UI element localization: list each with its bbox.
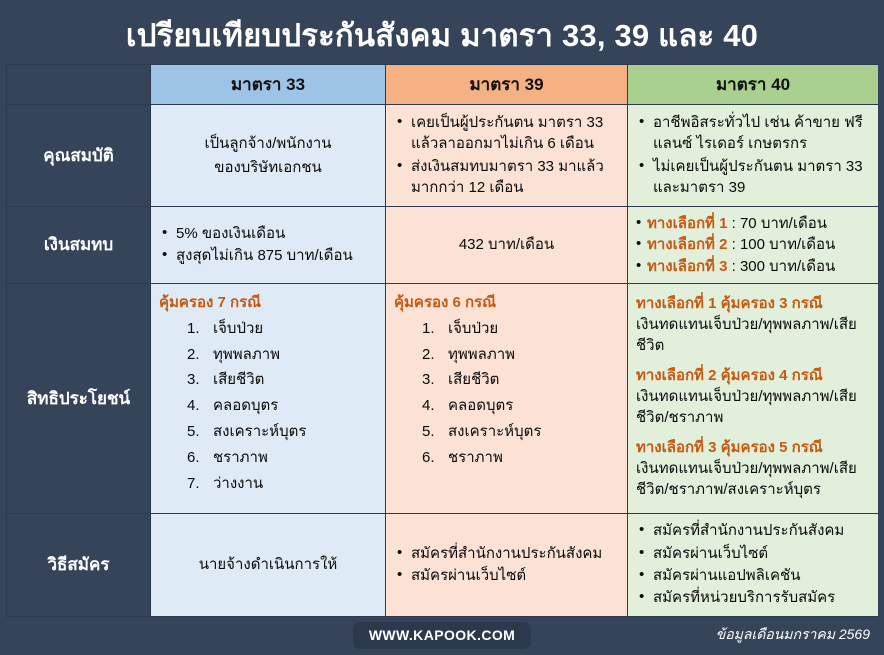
list-item: ทุพพลภาพ [187, 342, 377, 368]
list-item: เสียชีวิต [422, 367, 619, 393]
list-item: สงเคราะห์บุตร [187, 419, 377, 445]
list-item: สูงสุดไม่เกิน 875 บาท/เดือน [159, 245, 377, 266]
title-bar: เปรียบเทียบประกันสังคม มาตรา 33, 39 และ … [6, 6, 878, 64]
option-sep: : [727, 236, 740, 253]
list-item: เจ็บป่วย [422, 316, 619, 342]
column-header-section-39: มาตรา 39 [386, 65, 628, 105]
option-name: ทางเลือกที่ 1 [647, 215, 727, 232]
option-name: ทางเลือกที่ 2 [647, 236, 727, 253]
row-label-benefits: สิทธิประโยชน์ [7, 283, 151, 513]
list-item: ไม่เคยเป็นผู้ประกันตน มาตรา 33 และมาตรา … [636, 156, 870, 199]
table-row-qualification: คุณสมบัติ เป็นลูกจ้าง/พนักงาน ของบริษัทเ… [7, 105, 879, 207]
list-item: อาชีพอิสระทั่วไป เช่น ค้าขาย ฟรีแลนซ์ ไร… [636, 112, 870, 155]
corner-cell [7, 65, 151, 105]
option-value: 70 บาท/เดือน [740, 215, 827, 232]
option-value: 300 บาท/เดือน [740, 258, 835, 275]
data-date-note: ข้อมูลเดือนมกราคม 2569 [716, 624, 870, 646]
list-item: สมัครผ่านเว็บไซต์ [394, 565, 619, 586]
table-row-howtoapply: วิธีสมัคร นายจ้างดำเนินการให้ สมัครที่สำ… [7, 513, 879, 616]
list-item: ส่งเงินสมทบมาตรา 33 มาแล้วมากกว่า 12 เดื… [394, 156, 619, 199]
benefits-39-list: เจ็บป่วย ทุพพลภาพ เสียชีวิต คลอดบุตร สงเ… [394, 316, 619, 471]
benefit-option-2: ทางเลือกที่ 2 คุ้มครอง 4 กรณี เงินทดแทนเ… [636, 365, 870, 428]
qualification-33-line2: ของบริษัทเอกชน [159, 156, 377, 179]
qualification-33-line1: เป็นลูกจ้าง/พนักงาน [159, 132, 377, 155]
list-item: สมัครที่สำนักงานประกันสังคม [636, 520, 870, 541]
benefits-33-list: เจ็บป่วย ทุพพลภาพ เสียชีวิต คลอดบุตร สงเ… [159, 316, 377, 497]
option-name: ทางเลือกที่ 3 [647, 258, 727, 275]
option-value: 100 บาท/เดือน [740, 236, 835, 253]
list-item: ทางเลือกที่ 1 : 70 บาท/เดือน [636, 213, 870, 234]
cell-benefits-33: คุ้มครอง 7 กรณี เจ็บป่วย ทุพพลภาพ เสียชี… [151, 283, 386, 513]
benefit-option-3-heading: ทางเลือกที่ 3 คุ้มครอง 5 กรณี [636, 437, 870, 458]
contribution-40-list: ทางเลือกที่ 1 : 70 บาท/เดือน ทางเลือกที่… [636, 213, 870, 277]
list-item: ทุพพลภาพ [422, 342, 619, 368]
list-item: เสียชีวิต [187, 367, 377, 393]
list-item: ชราภาพ [422, 445, 619, 471]
list-item: ทางเลือกที่ 3 : 300 บาท/เดือน [636, 256, 870, 277]
list-item: ว่างงาน [187, 471, 377, 497]
brand-badge[interactable]: WWW.KAPOOK.COM [353, 622, 531, 649]
page-title: เปรียบเทียบประกันสังคม มาตรา 33, 39 และ … [126, 10, 758, 60]
cell-benefits-40: ทางเลือกที่ 1 คุ้มครอง 3 กรณี เงินทดแทนเ… [628, 283, 879, 513]
contribution-33-list: 5% ของเงินเดือน สูงสุดไม่เกิน 875 บาท/เด… [159, 223, 377, 267]
footer-bar: WWW.KAPOOK.COM ข้อมูลเดือนมกราคม 2569 [6, 617, 878, 654]
row-label-contribution: เงินสมทบ [7, 207, 151, 284]
column-header-section-33: มาตรา 33 [151, 65, 386, 105]
list-item: สงเคราะห์บุตร [422, 419, 619, 445]
cell-howtoapply-40: สมัครที่สำนักงานประกันสังคม สมัครผ่านเว็… [628, 513, 879, 616]
list-item: ทางเลือกที่ 2 : 100 บาท/เดือน [636, 234, 870, 255]
list-item: เคยเป็นผู้ประกันตน มาตรา 33 แล้วลาออกมาไ… [394, 112, 619, 155]
benefit-option-3: ทางเลือกที่ 3 คุ้มครอง 5 กรณี เงินทดแทนเ… [636, 437, 870, 500]
howtoapply-40-list: สมัครที่สำนักงานประกันสังคม สมัครผ่านเว็… [636, 520, 870, 608]
table-row-benefits: สิทธิประโยชน์ คุ้มครอง 7 กรณี เจ็บป่วย ท… [7, 283, 879, 513]
benefits-39-heading: คุ้มครอง 6 กรณี [394, 290, 619, 314]
cell-qualification-33: เป็นลูกจ้าง/พนักงาน ของบริษัทเอกชน [151, 105, 386, 207]
cell-contribution-33: 5% ของเงินเดือน สูงสุดไม่เกิน 875 บาท/เด… [151, 207, 386, 284]
list-item: เจ็บป่วย [187, 316, 377, 342]
benefit-option-1-body: เงินทดแทนเจ็บป่วย/ทุพพลภาพ/เสียชีวิต [636, 314, 870, 356]
list-item: 5% ของเงินเดือน [159, 223, 377, 244]
row-label-howtoapply: วิธีสมัคร [7, 513, 151, 616]
row-label-qualification: คุณสมบัติ [7, 105, 151, 207]
qualification-39-list: เคยเป็นผู้ประกันตน มาตรา 33 แล้วลาออกมาไ… [394, 112, 619, 198]
list-item: คลอดบุตร [422, 393, 619, 419]
benefit-option-2-body: เงินทดแทนเจ็บป่วย/ทุพพลภาพ/เสียชีวิต/ชรา… [636, 386, 870, 428]
cell-qualification-39: เคยเป็นผู้ประกันตน มาตรา 33 แล้วลาออกมาไ… [386, 105, 628, 207]
list-item: สมัครที่สำนักงานประกันสังคม [394, 543, 619, 564]
benefits-33-heading: คุ้มครอง 7 กรณี [159, 290, 377, 314]
benefit-option-3-body: เงินทดแทนเจ็บป่วย/ทุพพลภาพ/เสียชีวิต/ชรา… [636, 458, 870, 500]
cell-contribution-39: 432 บาท/เดือน [386, 207, 628, 284]
benefit-option-1: ทางเลือกที่ 1 คุ้มครอง 3 กรณี เงินทดแทนเ… [636, 293, 870, 356]
benefit-option-1-heading: ทางเลือกที่ 1 คุ้มครอง 3 กรณี [636, 293, 870, 314]
column-header-section-40: มาตรา 40 [628, 65, 879, 105]
comparison-table: มาตรา 33 มาตรา 39 มาตรา 40 คุณสมบัติ เป็… [6, 64, 879, 617]
list-item: สมัครผ่านเว็บไซต์ [636, 543, 870, 564]
list-item: คลอดบุตร [187, 393, 377, 419]
list-item: สมัครที่หน่วยบริการรับสมัคร [636, 587, 870, 608]
table-header-row: มาตรา 33 มาตรา 39 มาตรา 40 [7, 65, 879, 105]
howtoapply-39-list: สมัครที่สำนักงานประกันสังคม สมัครผ่านเว็… [394, 543, 619, 587]
benefit-option-2-heading: ทางเลือกที่ 2 คุ้มครอง 4 กรณี [636, 365, 870, 386]
cell-contribution-40: ทางเลือกที่ 1 : 70 บาท/เดือน ทางเลือกที่… [628, 207, 879, 284]
table-row-contribution: เงินสมทบ 5% ของเงินเดือน สูงสุดไม่เกิน 8… [7, 207, 879, 284]
cell-benefits-39: คุ้มครอง 6 กรณี เจ็บป่วย ทุพพลภาพ เสียชี… [386, 283, 628, 513]
option-sep: : [727, 258, 740, 275]
option-sep: : [727, 215, 740, 232]
cell-howtoapply-33: นายจ้างดำเนินการให้ [151, 513, 386, 616]
infographic-poster: เปรียบเทียบประกันสังคม มาตรา 33, 39 และ … [0, 0, 884, 655]
cell-qualification-40: อาชีพอิสระทั่วไป เช่น ค้าขาย ฟรีแลนซ์ ไร… [628, 105, 879, 207]
list-item: สมัครผ่านแอปพลิเคชัน [636, 565, 870, 586]
qualification-40-list: อาชีพอิสระทั่วไป เช่น ค้าขาย ฟรีแลนซ์ ไร… [636, 112, 870, 198]
list-item: ชราภาพ [187, 445, 377, 471]
cell-howtoapply-39: สมัครที่สำนักงานประกันสังคม สมัครผ่านเว็… [386, 513, 628, 616]
